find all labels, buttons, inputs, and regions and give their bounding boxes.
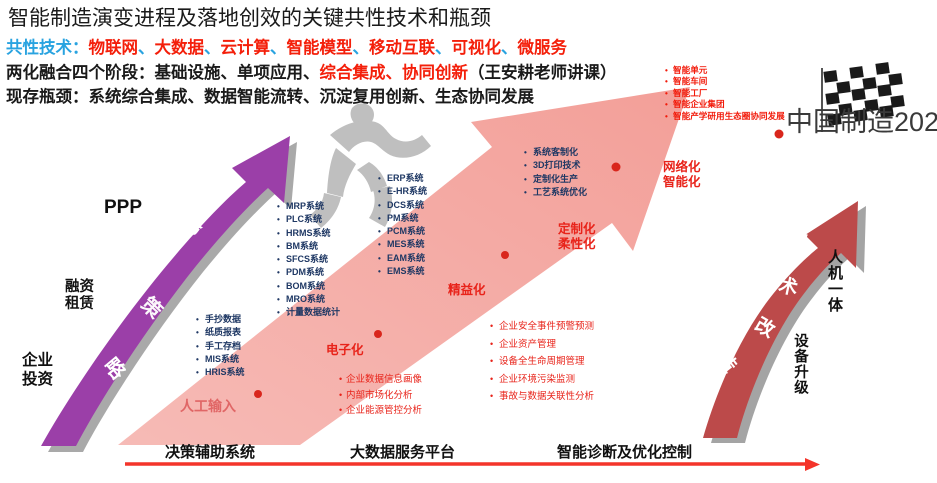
tech-item-2: 云计算: [221, 39, 271, 57]
tech-sep-5: 、: [501, 39, 518, 57]
list-item: 手抄数据: [196, 313, 245, 326]
bullets-manual: 手抄数据 纸质报表 手工存档 MIS系统 HRIS系统: [196, 313, 245, 379]
list-item: EMS系统: [378, 265, 427, 278]
ppp-label: PPP: [104, 197, 142, 219]
list-item: 系统客制化: [524, 146, 587, 159]
list-item: 企业安全事件预警预测: [490, 318, 594, 336]
tech-sep-0: 、: [138, 39, 155, 57]
list-item: 智能产学研用生态圈协同发展: [665, 111, 785, 122]
milestone-label-1: 电子化: [326, 343, 364, 358]
list-item: 事故与数据关联性分析: [490, 388, 594, 406]
list-item: 工艺系统优化: [524, 186, 587, 199]
stage-label-2: 智能诊断及优化控制: [557, 441, 692, 462]
list-item: BM系统: [277, 240, 340, 253]
list-item: E-HR系统: [378, 185, 427, 198]
tech-sep-2: 、: [270, 39, 287, 57]
tech-item-4: 移动互联: [369, 39, 435, 57]
milestone-label-2: 精益化: [448, 283, 486, 298]
financing-label: 融资 租赁: [65, 279, 94, 313]
stage-label-0: 决策辅助系统: [165, 441, 255, 462]
list-item: 智能工厂: [665, 88, 785, 99]
list-item: SFCS系统: [277, 253, 340, 266]
list-item: 企业环境污染监测: [490, 371, 594, 389]
milestone-dot-2: [374, 330, 382, 338]
four-stages-line: 两化融合四个阶段：基础设施、单项应用、综合集成、协同创新（王安耕老师讲课）: [6, 59, 617, 83]
list-item: MRP系统: [277, 200, 340, 213]
tech-item-0: 物联网: [89, 39, 139, 57]
bullets-sys-left: MRP系统 PLC系统 HRMS系统 BM系统 SFCS系统 PDM系统 BOM…: [277, 200, 340, 320]
list-item: 智能单元: [665, 65, 785, 76]
list-item: 企业能源管控分析: [339, 403, 422, 419]
list-item: 3D打印技术: [524, 159, 587, 172]
page-title: 智能制造演变进程及落地创效的关键共性技术和瓶颈: [8, 2, 491, 32]
bullets-custom: 系统客制化 3D打印技术 定制化生产 工艺系统优化: [524, 146, 587, 199]
list-item: BOM系统: [277, 280, 340, 293]
four-stages-label: 两化融合四个阶段：: [6, 64, 155, 82]
list-item: 定制化生产: [524, 173, 587, 186]
bullets-sys-right: ERP系统 E-HR系统 DCS系统 PM系统 PCM系统 MES系统 EAM系…: [378, 172, 427, 278]
list-item: 计量数据统计: [277, 306, 340, 319]
list-item: PCM系统: [378, 225, 427, 238]
list-item: 企业资产管理: [490, 336, 594, 354]
list-item: MES系统: [378, 238, 427, 251]
stage-label-1: 大数据服务平台: [350, 441, 455, 462]
list-item: EAM系统: [378, 252, 427, 265]
bullets-smart: 智能单元 智能车间 智能工厂 智能企业集团 智能产学研用生态圈协同发展: [665, 65, 785, 122]
four-stages-plain: 基础设施、单项应用、: [155, 64, 320, 82]
list-item: DCS系统: [378, 199, 427, 212]
common-tech-line: 共性技术：物联网、大数据、云计算、智能模型、移动互联、可视化、微服务: [6, 34, 567, 58]
common-tech-label: 共性技术：: [6, 39, 89, 57]
list-item: PM系统: [378, 212, 427, 225]
list-item: HRMS系统: [277, 227, 340, 240]
list-item: 纸质报表: [196, 326, 245, 339]
tech-sep-3: 、: [353, 39, 370, 57]
milestone-dot-1: [254, 390, 262, 398]
list-item: PLC系统: [277, 213, 340, 226]
list-item: 设备全生命周期管理: [490, 353, 594, 371]
milestone-label-3: 定制化 柔性化: [558, 222, 596, 252]
list-item: 内部市场化分析: [339, 388, 422, 404]
bottleneck-text: 系统综合集成、数据智能流转、沉淀复用创新、生态协同发展: [89, 88, 535, 106]
enterprise-invest-label: 企业 投资: [22, 351, 53, 389]
bottleneck-label: 现存瓶颈：: [6, 88, 89, 106]
tech-item-5: 可视化: [452, 39, 502, 57]
milestone-dot-4: [612, 163, 621, 172]
list-item: MIS系统: [196, 353, 245, 366]
four-stages-red: 综合集成、协同创新: [320, 64, 469, 82]
list-item: 智能企业集团: [665, 99, 785, 110]
milestone-label-4: 网络化 智能化: [663, 160, 701, 190]
bottleneck-line: 现存瓶颈：系统综合集成、数据智能流转、沉淀复用创新、生态协同发展: [6, 83, 534, 107]
four-stages-tail: （王安耕老师讲课）: [468, 64, 617, 82]
man-machine-label: 人机一体: [824, 249, 845, 313]
brand-label: 中国制造2025: [786, 100, 937, 139]
list-item: ERP系统: [378, 172, 427, 185]
list-item: MRO系统: [277, 293, 340, 306]
tech-sep-1: 、: [204, 39, 221, 57]
purple-arrow-char-0: 财: [202, 138, 226, 170]
tech-item-3: 智能模型: [287, 39, 353, 57]
list-item: PDM系统: [277, 266, 340, 279]
equipment-upgrade-label: 设备升级: [790, 333, 811, 395]
tech-item-1: 大数据: [155, 39, 205, 57]
manual-input-label: 人工输入: [180, 396, 236, 416]
list-item: HRIS系统: [196, 366, 245, 379]
tech-item-6: 微服务: [518, 39, 568, 57]
list-item: 智能车间: [665, 76, 785, 87]
list-item: 手工存档: [196, 340, 245, 353]
bullets-ops: 企业安全事件预警预测 企业资产管理 设备全生命周期管理 企业环境污染监测 事故与…: [490, 318, 594, 406]
list-item: 企业数据信息画像: [339, 372, 422, 388]
milestone-dot-5: [775, 130, 784, 139]
bullets-data: 企业数据信息画像 内部市场化分析 企业能源管控分析: [339, 372, 422, 419]
milestone-dot-3: [501, 251, 509, 259]
slide-canvas: 智能制造演变进程及落地创效的关键共性技术和瓶颈 共性技术：物联网、大数据、云计算…: [0, 0, 937, 483]
red-arrow-char-0: 技: [790, 222, 809, 249]
tech-sep-4: 、: [435, 39, 452, 57]
